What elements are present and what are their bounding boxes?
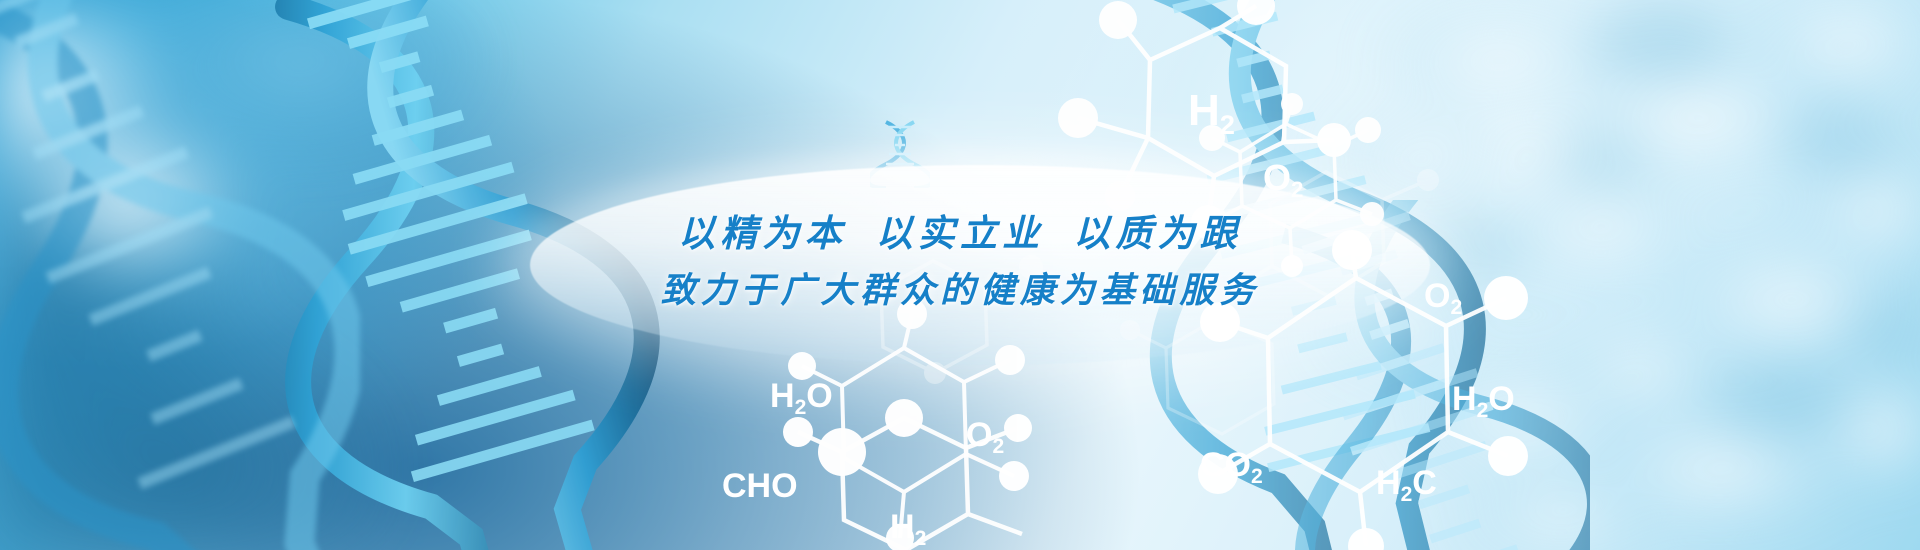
hero-banner: H2 O2 bbox=[0, 0, 1920, 550]
molecule-watermark-b bbox=[1130, 300, 1330, 480]
molecule-label-h2c-right: H2C bbox=[1376, 464, 1437, 506]
molecule-label-h2-center: H2 bbox=[890, 508, 926, 550]
molecule-label-cho-wrap: CHO bbox=[718, 455, 868, 515]
molecule-label-o2-center-wrap: O2 bbox=[962, 404, 1082, 464]
molecule-label-o2-center: O2 bbox=[966, 416, 1004, 458]
molecule-label-cho: CHO bbox=[722, 467, 798, 505]
molecule-label-h2c-right-wrap: H2C bbox=[1372, 452, 1512, 512]
molecule-watermark-c bbox=[845, 245, 1045, 405]
molecule-label-h2o-right-wrap: H2O bbox=[1448, 368, 1588, 428]
molecule-overlay: H2 O2 bbox=[0, 0, 1920, 550]
molecule-label-h2o-right: H2O bbox=[1452, 380, 1515, 422]
molecule-label-h2-center-wrap: H2 bbox=[886, 496, 1006, 550]
